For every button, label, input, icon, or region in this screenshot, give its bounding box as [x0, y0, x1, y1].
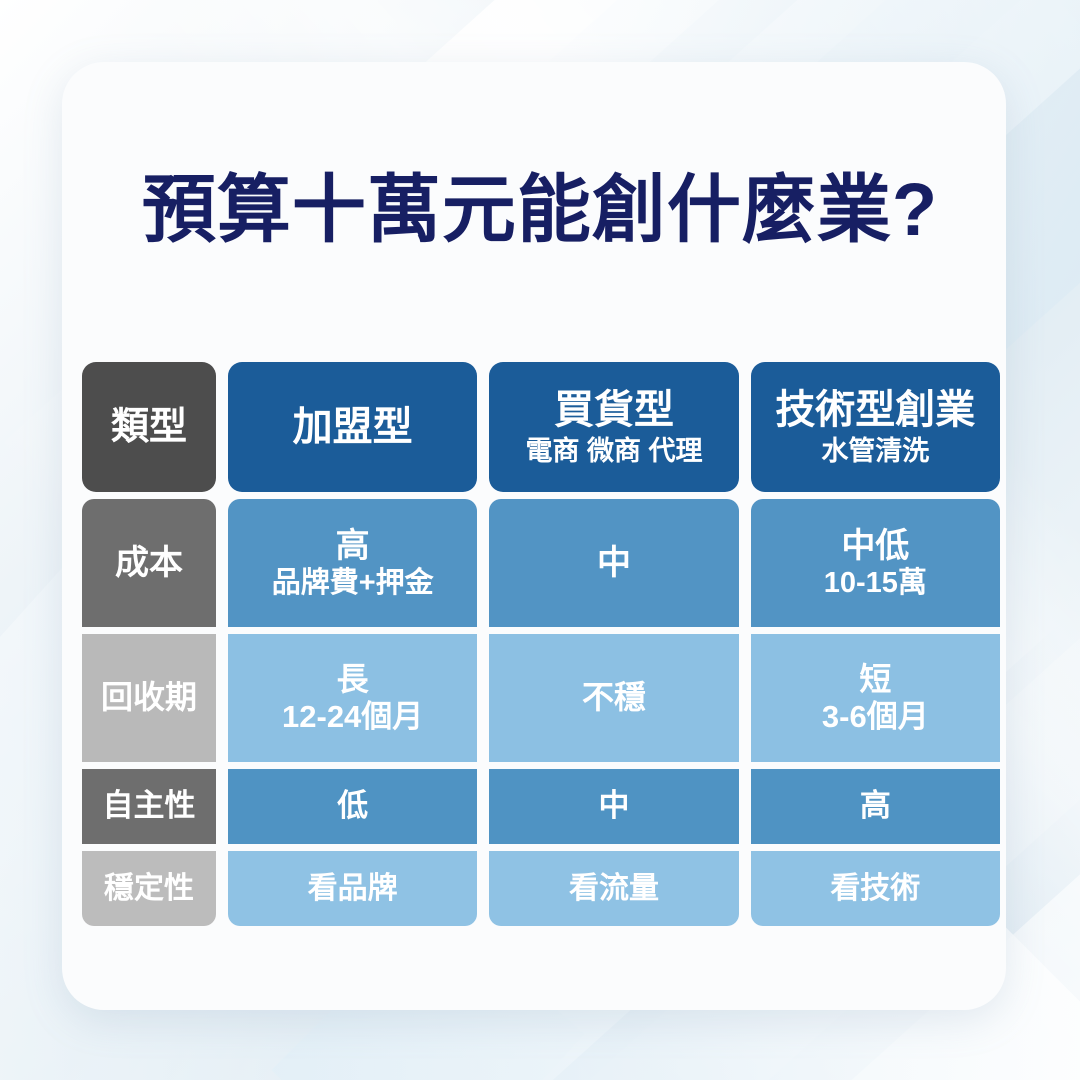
cell-type-franchise: 加盟型 [228, 362, 477, 492]
cell-main-text: 看技術 [830, 872, 920, 906]
cell-autonomy-technical: 高 [751, 769, 1000, 844]
cell-sub-text: 3-6個月 [822, 700, 929, 735]
row-label-stability: 穩定性 [82, 851, 216, 926]
cell-main-text: 高 [336, 527, 370, 565]
cell-sub-text: 水管清洗 [821, 436, 929, 466]
cell-stability-franchise: 看品牌 [228, 851, 477, 926]
page-title: 預算十萬元能創什麼業? [0, 150, 1080, 257]
table-row-autonomy: 自主性 低 中 高 [82, 769, 1000, 844]
cell-autonomy-reseller: 中 [489, 769, 738, 844]
cell-sub-text: 10-15萬 [824, 567, 927, 599]
cell-payback-technical: 短 3-6個月 [751, 634, 1000, 762]
cell-main-text: 中 [598, 789, 629, 824]
cell-main-text: 長 [337, 662, 369, 698]
cell-type-reseller: 買貨型 電商 微商 代理 [489, 362, 738, 492]
table-row-cost: 成本 高 品牌費+押金 中 中低 10-15萬 [82, 499, 1000, 627]
row-label-cost: 成本 [82, 499, 216, 627]
table-row-stability: 穩定性 看品牌 看流量 看技術 [82, 851, 1000, 926]
cell-main-text: 高 [860, 789, 891, 824]
cell-cost-technical: 中低 10-15萬 [751, 499, 1000, 627]
row-label-text: 回收期 [101, 680, 197, 716]
cell-type-technical: 技術型創業 水管清洗 [751, 362, 1000, 492]
cell-stability-reseller: 看流量 [489, 851, 738, 926]
cell-main-text: 中 [597, 544, 631, 582]
cell-main-text: 加盟型 [293, 405, 413, 450]
cell-payback-reseller: 不穩 [489, 634, 738, 762]
cell-main-text: 看流量 [569, 872, 659, 906]
cell-main-text: 中低 [841, 527, 909, 565]
cell-main-text: 技術型創業 [775, 388, 975, 433]
cell-main-text: 不穩 [582, 680, 646, 716]
cell-main-text: 低 [337, 789, 368, 824]
table-row-type: 類型 加盟型 買貨型 電商 微商 代理 技術型創業 水管清洗 [82, 362, 1000, 492]
cell-payback-franchise: 長 12-24個月 [228, 634, 477, 762]
cell-autonomy-franchise: 低 [228, 769, 477, 844]
cell-main-text: 短 [859, 662, 891, 698]
table-row-payback: 回收期 長 12-24個月 不穩 短 3-6個月 [82, 634, 1000, 762]
cell-cost-franchise: 高 品牌費+押金 [228, 499, 477, 627]
comparison-table: 類型 加盟型 買貨型 電商 微商 代理 技術型創業 水管清洗 成本 高 品牌費+… [82, 362, 1000, 926]
row-label-text: 穩定性 [104, 872, 194, 906]
row-label-text: 自主性 [103, 789, 196, 824]
cell-sub-text: 電商 微商 代理 [525, 436, 702, 466]
row-label-text: 成本 [115, 544, 183, 582]
cell-sub-text: 品牌費+押金 [272, 567, 434, 599]
row-label-autonomy: 自主性 [82, 769, 216, 844]
cell-stability-technical: 看技術 [751, 851, 1000, 926]
row-label-text: 類型 [111, 406, 187, 449]
cell-main-text: 買貨型 [554, 388, 674, 433]
cell-cost-reseller: 中 [489, 499, 738, 627]
cell-main-text: 看品牌 [308, 872, 398, 906]
row-label-payback: 回收期 [82, 634, 216, 762]
row-label-type: 類型 [82, 362, 216, 492]
cell-sub-text: 12-24個月 [282, 700, 423, 735]
